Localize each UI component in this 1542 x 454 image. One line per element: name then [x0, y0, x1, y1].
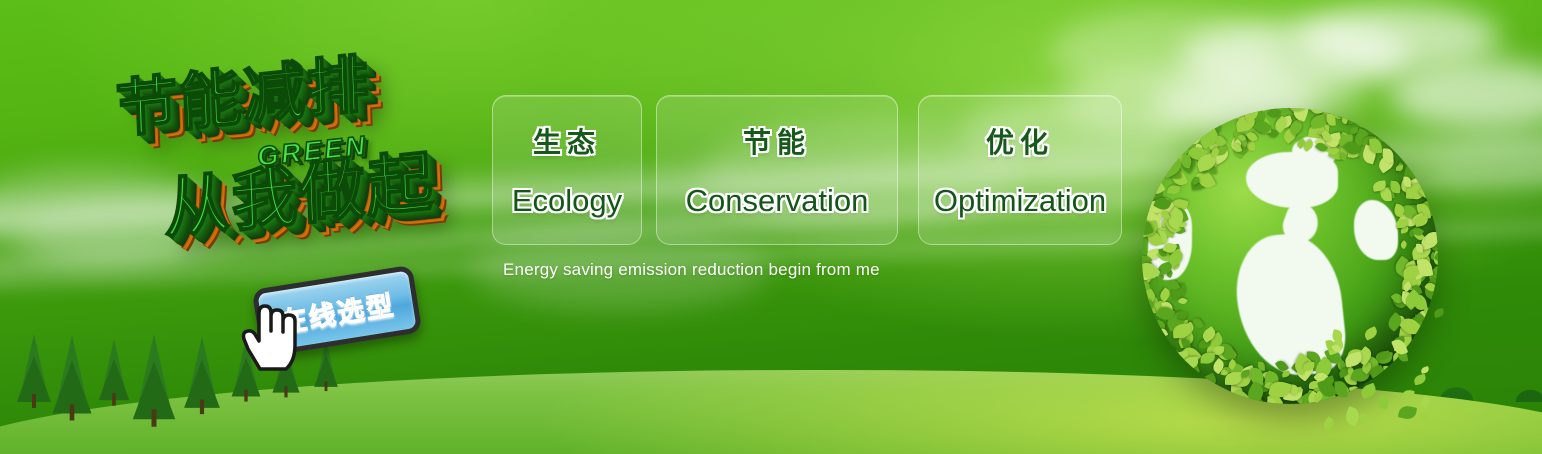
leaf-icon [1406, 209, 1418, 221]
leaf-icon [1378, 350, 1390, 360]
leaf-icon [1434, 308, 1446, 318]
leaf-icon [1340, 386, 1351, 397]
leaf-icon [1165, 164, 1174, 173]
leaf-icon [1432, 250, 1438, 266]
leaf-icon [1337, 132, 1348, 145]
leaf-icon [1383, 148, 1395, 163]
leaf-icon [1156, 230, 1167, 243]
leaf-icon [1411, 243, 1432, 261]
leaf-icon [1360, 356, 1368, 365]
cloud-icon [1050, 10, 1280, 96]
leaf-icon [1352, 109, 1373, 131]
leaf-icon [1241, 116, 1253, 128]
leaf-icon [1392, 256, 1413, 278]
leaf-icon [1320, 382, 1335, 397]
leaf-icon [1147, 197, 1167, 214]
leaf-icon [1339, 134, 1355, 147]
leaf-icon [1414, 215, 1429, 227]
leaf-icon [1237, 134, 1246, 143]
leaf-icon [1347, 347, 1366, 364]
leaf-icon [1199, 164, 1209, 175]
leaf-icon [1269, 380, 1292, 400]
leaf-icon [1292, 353, 1313, 376]
leaf-icon [1210, 147, 1221, 158]
leaf-icon [1212, 133, 1227, 149]
leaf-icon [1408, 228, 1419, 238]
leaf-icon [1402, 177, 1424, 197]
leaf-icon [1369, 138, 1382, 154]
leaf-icon [1314, 134, 1335, 156]
leaf-icon [1200, 326, 1218, 343]
leaf-icon [1395, 343, 1404, 350]
leaf-icon [1166, 248, 1186, 268]
leaf-icon [1314, 124, 1327, 138]
leaf-icon [1401, 226, 1410, 234]
leaf-icon [1142, 269, 1152, 282]
continent-greenland [1292, 136, 1336, 166]
leaf-icon [1197, 127, 1220, 149]
leaf-icon [1313, 369, 1331, 387]
leaf-icon [1400, 291, 1412, 305]
leaf-icon [1142, 254, 1153, 266]
leaf-icon [1252, 108, 1273, 115]
leaf-icon [1312, 382, 1326, 395]
leaf-icon [1231, 138, 1244, 151]
leaf-icon [1180, 344, 1202, 366]
leafy-earth-globe [1142, 108, 1438, 404]
leaf-icon [1206, 345, 1217, 354]
leaf-icon [1287, 119, 1305, 136]
leaf-icon [1183, 357, 1199, 370]
leaf-icon [1246, 139, 1255, 151]
leaf-icon [1339, 152, 1347, 161]
cloud-icon [1300, 5, 1500, 69]
leaf-icon [1205, 136, 1215, 147]
leaf-icon [1178, 153, 1198, 174]
leaf-icon [1225, 372, 1242, 385]
leaf-icon [1338, 368, 1350, 378]
leaf-icon [1382, 185, 1395, 200]
leaf-icon [1402, 280, 1414, 292]
leaf-icon [1167, 183, 1181, 195]
leaf-icon [1426, 266, 1438, 285]
leaf-icon [1344, 351, 1363, 367]
globe-sphere [1142, 108, 1438, 404]
leaf-icon [1398, 316, 1405, 325]
leaf-icon [1349, 386, 1363, 402]
leaf-icon [1344, 368, 1357, 385]
conifer-tree [187, 336, 216, 401]
leaf-icon [1142, 214, 1145, 232]
feature-card-en-label: Ecology [512, 183, 622, 219]
leaf-icon [1166, 345, 1175, 354]
leaf-icon [1326, 114, 1336, 126]
leaf-icon [1275, 358, 1290, 373]
leaf-icon [1402, 177, 1414, 190]
leaf-icon [1210, 145, 1231, 165]
leaf-icon [1393, 351, 1408, 363]
leaf-icon [1187, 144, 1208, 164]
leaf-icon [1395, 183, 1401, 190]
leaf-icon [1167, 278, 1180, 292]
continent-west-edge [1148, 204, 1192, 280]
leaf-icon [1404, 202, 1423, 221]
leaf-icon [1343, 139, 1362, 158]
leaf-icon [1305, 390, 1320, 404]
leaf-icon [1246, 130, 1258, 142]
leaf-icon [1187, 322, 1195, 328]
leaf-icon [1392, 204, 1405, 219]
leaf-icon [1412, 293, 1428, 311]
leaf-icon [1142, 264, 1153, 280]
logo-line-primary: 节能减排 [114, 33, 372, 150]
leaf-icon [1409, 312, 1428, 332]
leaf-icon [1249, 368, 1264, 386]
leaf-icon [1176, 330, 1196, 348]
leaf-icon [1233, 128, 1245, 138]
leaf-icon [1157, 262, 1173, 276]
leaf-icon [1195, 153, 1217, 172]
leaf-icon [1291, 358, 1311, 377]
leaf-icon [1170, 218, 1186, 235]
leaf-icon [1308, 122, 1330, 140]
leaf-icon [1266, 391, 1283, 404]
leaf-icon [1191, 173, 1211, 190]
leaf-icon [1162, 241, 1177, 254]
leaf-icon [1418, 185, 1434, 202]
leaf-icon [1154, 298, 1173, 319]
continent-east-edge [1354, 200, 1398, 260]
leaf-icon [1209, 121, 1223, 136]
leaf-icon [1319, 110, 1332, 123]
leaf-icon [1326, 136, 1340, 149]
leaf-icon [1264, 381, 1276, 391]
leaf-icon [1405, 266, 1427, 286]
leaf-icon [1169, 347, 1182, 360]
leaf-icon [1178, 310, 1189, 319]
leaf-icon [1159, 157, 1183, 179]
leaf-icon [1293, 108, 1302, 114]
leaf-icon [1225, 347, 1236, 359]
leaf-icon [1154, 319, 1168, 334]
leaf-icon [1420, 366, 1429, 374]
leaf-icon [1262, 370, 1281, 391]
leaf-icon [1147, 248, 1160, 259]
continent-north-america [1246, 152, 1338, 208]
leaf-icon [1165, 206, 1188, 231]
leaf-icon [1147, 230, 1164, 249]
leaf-icon [1142, 244, 1144, 263]
leaf-icon [1303, 362, 1315, 371]
leaf-icon [1156, 273, 1165, 282]
leaf-icon [1375, 349, 1393, 364]
leaf-icon [1356, 142, 1376, 160]
leaf-icon [1320, 377, 1331, 386]
feature-card-optimization[interactable]: 优化 Optimization [918, 95, 1122, 245]
leaf-icon [1143, 198, 1164, 219]
leaf-icon [1142, 266, 1149, 277]
leaf-icon [1376, 365, 1384, 374]
leaf-icon [1414, 320, 1432, 336]
leaf-icon [1301, 389, 1323, 404]
leaf-icon [1351, 366, 1372, 384]
leaf-icon [1399, 240, 1408, 249]
leaf-icon [1201, 353, 1215, 364]
leaf-icon [1158, 248, 1166, 258]
leaf-icon [1198, 155, 1217, 174]
leaf-icon [1413, 324, 1426, 336]
leaf-icon [1228, 135, 1245, 153]
leaf-icon [1283, 385, 1303, 402]
leaf-icon [1390, 180, 1401, 193]
leaf-icon [1424, 231, 1438, 244]
leaf-icon [1405, 178, 1415, 189]
leaf-icon [1247, 392, 1266, 404]
leaf-icon [1285, 116, 1296, 127]
leaf-icon [1290, 108, 1311, 121]
tagline-text: Energy saving emission reduction begin f… [503, 260, 880, 280]
leaf-icon [1161, 301, 1173, 315]
leaf-icon [1142, 215, 1149, 229]
leaf-icon [1169, 167, 1188, 188]
leaf-icon [1171, 197, 1189, 213]
leaf-icon [1206, 136, 1222, 152]
leaf-icon [1171, 262, 1181, 271]
leaf-icon [1157, 287, 1172, 302]
leaf-icon [1410, 212, 1424, 225]
leaf-icon [1146, 187, 1165, 205]
leaf-icon [1312, 392, 1327, 404]
leaf-icon [1180, 154, 1193, 169]
feature-card-ecology[interactable]: 生态 Ecology [492, 95, 642, 245]
conifer-tree [20, 334, 48, 396]
cloud-icon [1430, 140, 1542, 200]
leaf-icon [1335, 108, 1353, 120]
leaf-icon [1296, 138, 1307, 149]
leaf-icon [1312, 356, 1336, 381]
leaf-icon [1307, 108, 1324, 116]
leaf-icon [1180, 321, 1197, 337]
leaf-icon [1404, 181, 1425, 203]
leaf-icon [1237, 147, 1248, 156]
leaf-icon [1208, 164, 1216, 175]
leaf-icon [1411, 284, 1422, 296]
leaf-icon [1268, 108, 1282, 119]
leaf-icon [1174, 355, 1198, 376]
leaf-icon [1173, 206, 1190, 225]
leaf-icon [1200, 116, 1218, 135]
leaf-icon [1230, 370, 1252, 390]
leaf-icon [1179, 125, 1203, 149]
leaf-icon [1306, 351, 1323, 372]
feature-card-cn-label: 优化 [986, 121, 1054, 161]
leaf-icon [1154, 233, 1166, 246]
leaf-icon [1418, 200, 1438, 218]
leaf-icon [1227, 360, 1245, 377]
feature-card-conservation[interactable]: 节能 Conservation [656, 95, 898, 245]
leaf-icon [1244, 381, 1266, 404]
leaf-icon [1414, 231, 1425, 242]
logo-line-secondary: 从我做起 [162, 128, 436, 253]
leaf-icon [1155, 304, 1176, 323]
leaf-icon [1169, 283, 1189, 301]
leaf-icon [1195, 149, 1209, 165]
cloud-icon [1180, 20, 1410, 92]
leaf-icon [1415, 315, 1422, 324]
leaf-icon [1184, 136, 1200, 151]
leaf-icon [1401, 203, 1419, 222]
hero-logo: 节能减排 GREEN 从我做起 [95, 40, 485, 270]
leaf-icon [1371, 141, 1381, 152]
leaf-icon [1267, 127, 1279, 139]
conifer-tree [101, 339, 126, 395]
leaf-icon [1293, 392, 1306, 404]
leaf-icon [1324, 346, 1342, 366]
leaf-icon [1402, 147, 1415, 162]
leaf-icon [1361, 144, 1379, 164]
leaf-icon [1183, 325, 1190, 334]
leaf-icon [1416, 244, 1423, 253]
leaf-icon [1160, 216, 1174, 229]
online-selection-cta[interactable]: 在线选型 [256, 277, 416, 355]
leaf-icon [1425, 184, 1436, 196]
leaf-icon [1266, 397, 1276, 404]
leaf-icon [1377, 134, 1386, 143]
leaf-icon [1173, 351, 1192, 372]
leaf-icon [1357, 138, 1368, 148]
leaf-icon [1407, 153, 1420, 167]
leaf-icon [1302, 139, 1316, 152]
leaf-icon [1338, 393, 1347, 404]
leaf-icon [1258, 362, 1265, 371]
leaf-icon [1165, 311, 1188, 332]
leaf-icon [1423, 304, 1438, 325]
leaf-icon [1420, 232, 1438, 251]
leaf-icon [1309, 381, 1319, 389]
leaf-icon [1397, 210, 1419, 231]
leaf-icon [1372, 181, 1386, 193]
leaf-icon [1329, 136, 1343, 148]
hand-pointer-icon [238, 299, 304, 375]
leaf-icon [1142, 220, 1159, 238]
leaf-icon [1254, 115, 1271, 135]
leaf-icon [1164, 218, 1181, 236]
leaf-icon [1183, 364, 1201, 381]
leaf-icon [1195, 169, 1216, 191]
leaf-icon [1413, 373, 1427, 385]
leaf-icon [1296, 113, 1303, 122]
leaf-icon [1236, 366, 1257, 385]
leaf-icon [1403, 265, 1420, 278]
leaf-icon [1315, 384, 1338, 404]
leaf-icon [1161, 211, 1170, 221]
leaf-icon [1417, 202, 1432, 220]
leaf-icon [1400, 180, 1411, 193]
leaf-icon [1425, 280, 1438, 293]
conifer-tree [56, 335, 88, 406]
leaf-icon [1277, 116, 1293, 130]
leaf-icon [1314, 141, 1327, 154]
grass-highlight [0, 438, 1542, 454]
leaf-icon [1142, 217, 1153, 238]
leaf-icon [1142, 219, 1155, 233]
leaf-icon [1227, 358, 1238, 369]
leaf-icon [1240, 108, 1256, 127]
leaf-icon [1434, 219, 1438, 227]
leaf-icon [1202, 331, 1225, 353]
leaf-icon [1245, 394, 1252, 402]
leaf-icon [1142, 258, 1160, 282]
leaf-icon [1369, 366, 1387, 385]
leaf-icon [1150, 228, 1161, 241]
leaf-icon [1397, 327, 1413, 346]
leaf-icon [1167, 243, 1181, 255]
leaf-icon [1399, 315, 1423, 339]
leaf-icon [1339, 108, 1359, 126]
leaf-icon [1411, 261, 1432, 280]
leaf-icon [1242, 108, 1261, 123]
leaf-icon [1165, 161, 1181, 180]
leaf-icon [1348, 147, 1362, 158]
leaf-icon [1262, 369, 1276, 383]
leaf-icon [1416, 251, 1431, 269]
leaf-icon [1177, 320, 1188, 329]
leaf-icon [1153, 195, 1172, 212]
leaf-icon [1341, 363, 1349, 370]
leaf-icon [1418, 309, 1429, 319]
leaf-icon [1320, 129, 1331, 142]
leaf-icon [1352, 128, 1372, 150]
leaf-icon [1328, 143, 1349, 162]
leaf-icon [1349, 127, 1358, 134]
leaf-icon [1429, 280, 1438, 298]
leaf-icon [1253, 118, 1272, 137]
leaf-icon [1159, 327, 1168, 337]
leaf-icon [1287, 113, 1302, 130]
leaf-icon [1173, 324, 1185, 339]
leaf-icon [1403, 389, 1416, 400]
leaf-icon [1335, 132, 1352, 150]
leaf-icon [1369, 364, 1385, 379]
leaf-icon [1318, 127, 1329, 137]
leaf-icon [1215, 146, 1227, 156]
leaf-icon [1434, 249, 1438, 266]
leaf-icon [1346, 366, 1355, 375]
leaf-icon [1175, 217, 1186, 229]
leaf-icon [1164, 225, 1175, 238]
feature-card-en-label: Optimization [934, 183, 1106, 219]
leaf-icon [1293, 357, 1318, 382]
leaf-icon [1194, 143, 1204, 155]
leaf-icon [1402, 274, 1422, 289]
leaf-icon [1376, 154, 1397, 174]
leaf-icon [1156, 197, 1177, 220]
leaf-icon [1301, 390, 1321, 404]
feature-card-cn-label: 生态 [533, 121, 601, 161]
leaf-icon [1395, 162, 1405, 172]
leaf-icon [1396, 219, 1408, 229]
leaf-icon [1355, 346, 1374, 366]
leaf-icon [1430, 251, 1438, 260]
continent-central-america [1279, 199, 1324, 246]
leaf-icon [1170, 351, 1190, 368]
leaf-icon [1365, 356, 1380, 375]
leaf-icon [1219, 341, 1236, 361]
leaf-icon [1148, 224, 1170, 245]
leaf-icon [1142, 300, 1156, 314]
leaf-icon [1421, 278, 1438, 301]
leaf-icon [1326, 143, 1340, 157]
